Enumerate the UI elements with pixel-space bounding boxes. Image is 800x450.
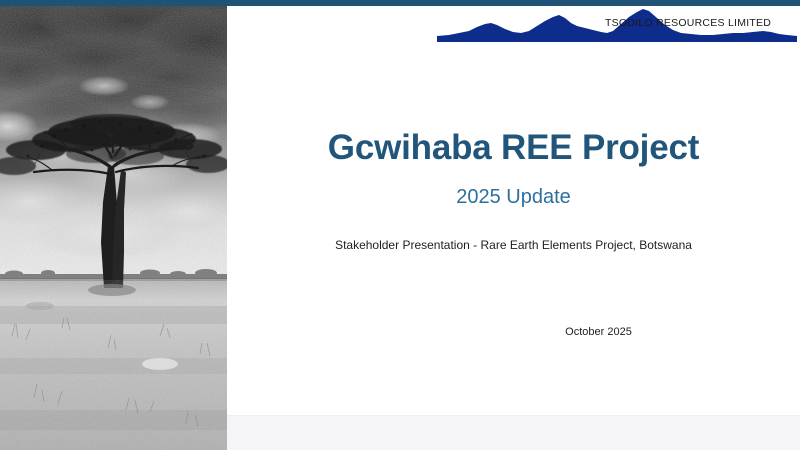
slide-subtitle: 2025 Update	[227, 186, 800, 209]
footer-band	[227, 415, 800, 450]
slide-tagline: Stakeholder Presentation - Rare Earth El…	[227, 238, 800, 252]
slide-title: Gcwihaba REE Project	[227, 128, 800, 168]
slide-content: Gcwihaba REE Project 2025 Update Stakeho…	[227, 6, 800, 415]
company-name-label: TSODILO RESOURCES LIMITED	[605, 17, 771, 29]
company-logo: TSODILO RESOURCES LIMITED	[437, 6, 797, 42]
title-slide: TSODILO RESOURCES LIMITED Gcwihaba REE P…	[0, 0, 800, 450]
cover-photo	[0, 6, 227, 450]
top-accent-bar	[0, 0, 800, 6]
slide-date: October 2025	[227, 326, 800, 338]
